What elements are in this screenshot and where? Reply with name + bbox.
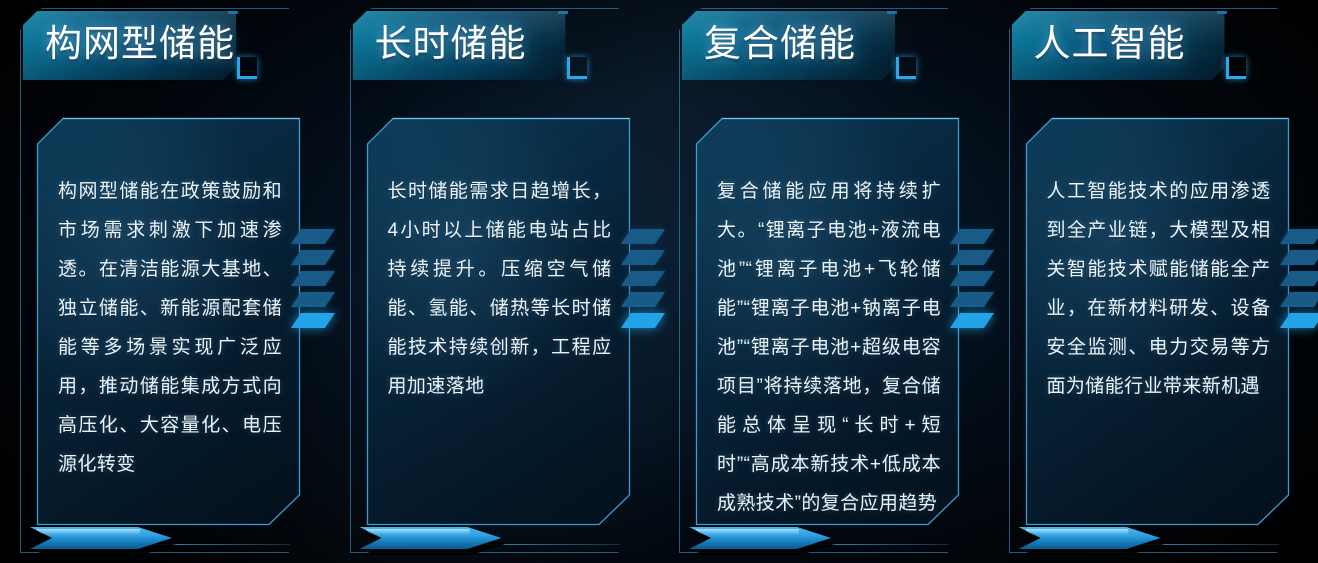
header-corner-bracket-icon	[237, 57, 257, 79]
arrow-highlight	[1025, 529, 1129, 535]
slash-icon-highlight	[1279, 313, 1318, 328]
slash-icon	[1279, 250, 1318, 265]
arrow-highlight	[366, 529, 470, 535]
card-row: 构网型储能 构网型储能在政策鼓励和市场需求刺激下加速渗透。在清洁能源大基地、独立…	[0, 0, 1318, 563]
slash-icon	[950, 229, 994, 244]
slash-icon	[950, 271, 994, 286]
slash-icon	[620, 292, 664, 307]
slash-icon	[1279, 271, 1318, 286]
slash-decor-icon	[626, 229, 662, 341]
card-body-text: 人工智能技术的应用渗透到全产业链，大模型及相关智能技术赋能储能全产业，在新材料研…	[1047, 172, 1271, 406]
card-title: 复合储能	[704, 21, 856, 67]
header-corner-bracket-icon	[1226, 57, 1246, 79]
slash-decor-icon	[1285, 229, 1318, 341]
header-tick-icon	[1217, 11, 1227, 14]
slash-icon	[950, 250, 994, 265]
slash-icon	[291, 229, 335, 244]
slash-icon	[950, 292, 994, 307]
header-tick-icon	[558, 11, 568, 14]
card-long-duration-storage[interactable]: 长时储能 长时储能需求日趋增长，4小时以上储能电站占比持续提升。压缩空气储能、氢…	[330, 0, 660, 563]
slash-icon-highlight	[950, 313, 994, 328]
card-title: 人工智能	[1034, 21, 1186, 67]
slash-icon	[620, 229, 664, 244]
slash-icon	[620, 250, 664, 265]
slash-icon	[291, 292, 335, 307]
header-tick-icon	[228, 11, 238, 14]
slash-decor-icon	[296, 229, 332, 341]
card-hybrid-storage[interactable]: 复合储能 复合储能应用将持续扩大。“锂离子电池+液流电池”“锂离子电池+飞轮储能…	[659, 0, 989, 563]
slash-icon	[291, 250, 335, 265]
card-grid-forming-storage[interactable]: 构网型储能 构网型储能在政策鼓励和市场需求刺激下加速渗透。在清洁能源大基地、独立…	[0, 0, 330, 563]
bottom-arrow-icon	[360, 527, 510, 557]
slash-icon-highlight	[620, 313, 664, 328]
arrow-highlight	[36, 529, 140, 535]
card-artificial-intelligence[interactable]: 人工智能 人工智能技术的应用渗透到全产业链，大模型及相关智能技术赋能储能全产业，…	[989, 0, 1318, 563]
bottom-arrow-icon	[689, 527, 839, 557]
slash-icon-highlight	[291, 313, 335, 328]
card-title: 长时储能	[375, 21, 527, 67]
header-tick-icon	[887, 11, 897, 14]
slash-icon	[1279, 229, 1318, 244]
arrow-highlight	[695, 529, 799, 535]
header-corner-bracket-icon	[567, 57, 587, 79]
card-body-text: 构网型储能在政策鼓励和市场需求刺激下加速渗透。在清洁能源大基地、独立储能、新能源…	[58, 172, 282, 484]
slash-decor-icon	[955, 229, 991, 341]
bottom-arrow-icon	[30, 527, 180, 557]
card-body-text: 长时储能需求日趋增长，4小时以上储能电站占比持续提升。压缩空气储能、氢能、储热等…	[388, 172, 612, 406]
card-title: 构网型储能	[45, 21, 235, 67]
slash-icon	[620, 271, 664, 286]
bottom-arrow-icon	[1019, 527, 1169, 557]
slash-icon	[1279, 292, 1318, 307]
slide-stage: 构网型储能 构网型储能在政策鼓励和市场需求刺激下加速渗透。在清洁能源大基地、独立…	[0, 0, 1318, 563]
header-corner-bracket-icon	[896, 57, 916, 79]
slash-icon	[291, 271, 335, 286]
card-body-text: 复合储能应用将持续扩大。“锂离子电池+液流电池”“锂离子电池+飞轮储能”“锂离子…	[717, 172, 941, 523]
